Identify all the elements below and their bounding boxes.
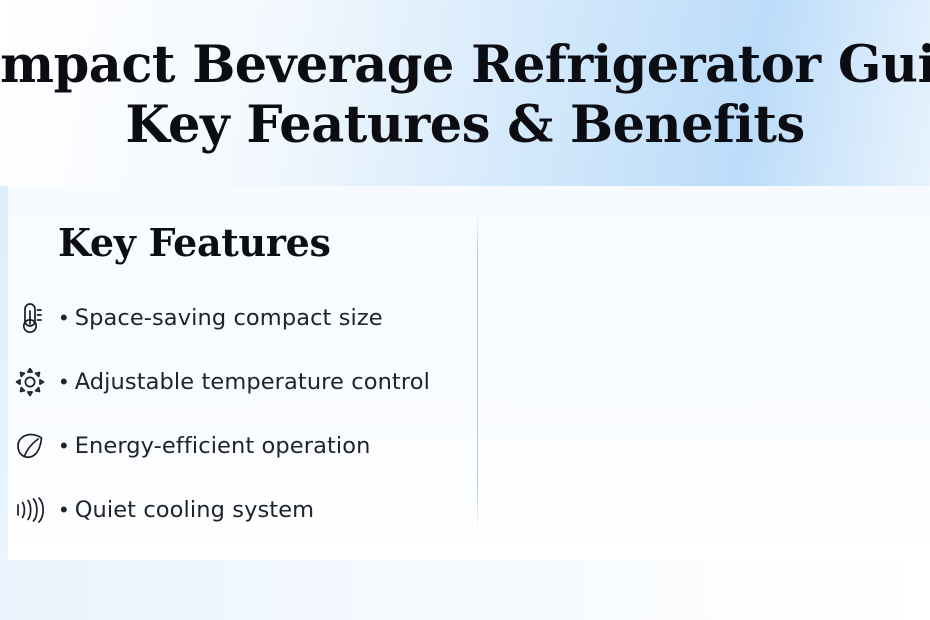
bullet: •	[60, 307, 68, 329]
key-features-column: Key Features • Space-sav	[0, 186, 477, 560]
list-item-label: Adjustable temperature control	[75, 369, 430, 395]
list-item-label: Space-saving compact size	[75, 305, 383, 331]
benefits-column: Benefits • Perfect for small spaces	[477, 186, 930, 560]
columns-container: Key Features • Space-sav	[0, 186, 930, 560]
thermometer-icon	[6, 296, 54, 340]
list-item: • Energy-efficient operation	[6, 414, 430, 478]
list-item: • Quiet cooling system	[6, 478, 430, 542]
sound-waves-icon	[6, 488, 54, 532]
footer-band	[0, 560, 930, 620]
infographic-page: Compact Beverage Refrigerator Guide Key …	[0, 0, 930, 620]
bullet: •	[60, 371, 68, 393]
list-item: • Space-saving compact size	[6, 286, 430, 350]
bullet: •	[60, 499, 68, 521]
page-title-line-1: Compact Beverage Refrigerator Guide	[0, 36, 930, 94]
page-title-line-2: Key Features & Benefits	[125, 96, 804, 154]
gear-icon	[6, 360, 54, 404]
key-features-list: • Space-saving compact size	[6, 286, 430, 542]
bullet: •	[60, 435, 68, 457]
list-item-label: Energy-efficient operation	[75, 433, 371, 459]
leaf-icon	[6, 424, 54, 468]
list-item-label: Quiet cooling system	[75, 497, 314, 523]
list-item: • Adjustable temperature control	[6, 350, 430, 414]
header-content: Compact Beverage Refrigerator Guide Key …	[0, 0, 930, 186]
header-band: Compact Beverage Refrigerator Guide Key …	[0, 0, 930, 186]
key-features-heading: Key Features	[58, 220, 331, 265]
